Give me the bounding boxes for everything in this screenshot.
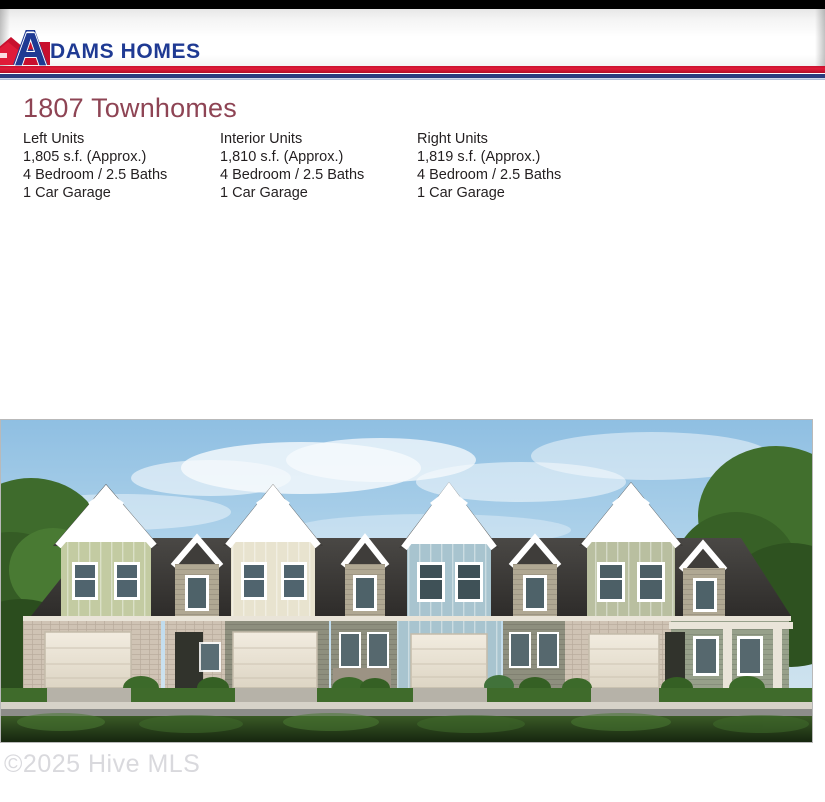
unit-column-heading: Right Units (417, 130, 561, 148)
unit-column-interior: Interior Units 1,810 s.f. (Approx.) 4 Be… (220, 130, 364, 202)
unit-column-right: Right Units 1,819 s.f. (Approx.) 4 Bedro… (417, 130, 561, 202)
unit-column-rooms: 4 Bedroom / 2.5 Baths (220, 166, 364, 184)
unit-column-rooms: 4 Bedroom / 2.5 Baths (23, 166, 167, 184)
unit-column-left: Left Units 1,805 s.f. (Approx.) 4 Bedroo… (23, 130, 167, 202)
spec-sheet: 1807 Townhomes Left Units 1,805 s.f. (Ap… (0, 80, 825, 418)
unit-column-rooms: 4 Bedroom / 2.5 Baths (417, 166, 561, 184)
rendering-artwork (1, 420, 812, 742)
unit-column-heading: Interior Units (220, 130, 364, 148)
unit-column-area: 1,819 s.f. (Approx.) (417, 148, 561, 166)
page-header: A A DAMS HOMES (0, 0, 825, 80)
header-red-stripe (0, 66, 825, 73)
page-title: 1807 Townhomes (23, 93, 237, 124)
mls-watermark: ©2025 Hive MLS (4, 750, 200, 779)
townhome-exterior-rendering[interactable] (0, 419, 813, 743)
unit-column-garage: 1 Car Garage (417, 184, 561, 202)
unit-column-area: 1,805 s.f. (Approx.) (23, 148, 167, 166)
logo-wordmark: DAMS HOMES (50, 40, 201, 64)
unit-column-garage: 1 Car Garage (23, 184, 167, 202)
curb (1, 702, 812, 709)
header-right-shadow (815, 9, 825, 67)
unit-column-area: 1,810 s.f. (Approx.) (220, 148, 364, 166)
top-black-bar (0, 0, 825, 9)
unit-column-garage: 1 Car Garage (220, 184, 364, 202)
unit-column-heading: Left Units (23, 130, 167, 148)
foreground-hedge (1, 716, 812, 742)
